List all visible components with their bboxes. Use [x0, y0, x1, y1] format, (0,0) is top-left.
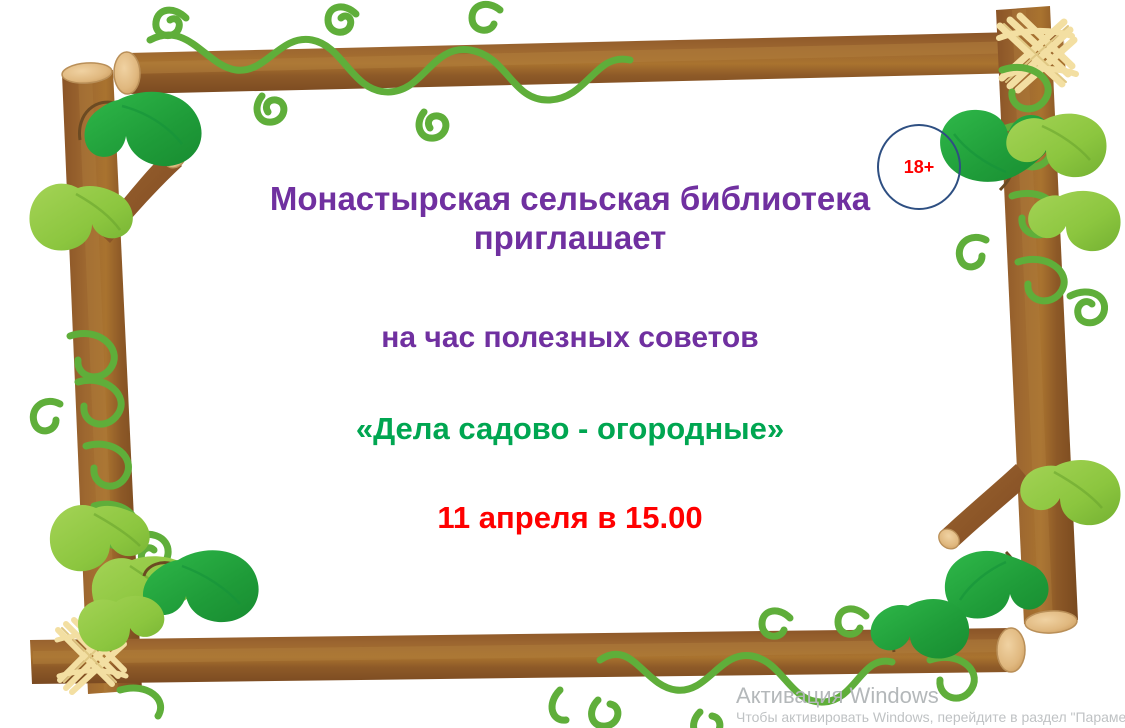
age-rating-label: 18+ [904, 157, 935, 178]
age-rating-badge: 18+ [877, 124, 961, 210]
poster-canvas: Монастырская сельская библиотека приглаш… [0, 0, 1125, 728]
poster-title: Монастырская сельская библиотека [190, 180, 950, 219]
poster-text-block: Монастырская сельская библиотека приглаш… [190, 180, 950, 536]
poster-invite-line: приглашает [190, 219, 950, 258]
leaf-bottom-right-dark [871, 599, 970, 659]
leaf-top-left [79, 92, 201, 166]
poster-event-datetime: 11 апреля в 15.00 [190, 500, 950, 537]
right-post [935, 6, 1078, 634]
poster-event-title: «Дела садово - огородные» [190, 411, 950, 448]
poster-event-kind: на час полезных советов [190, 320, 950, 355]
